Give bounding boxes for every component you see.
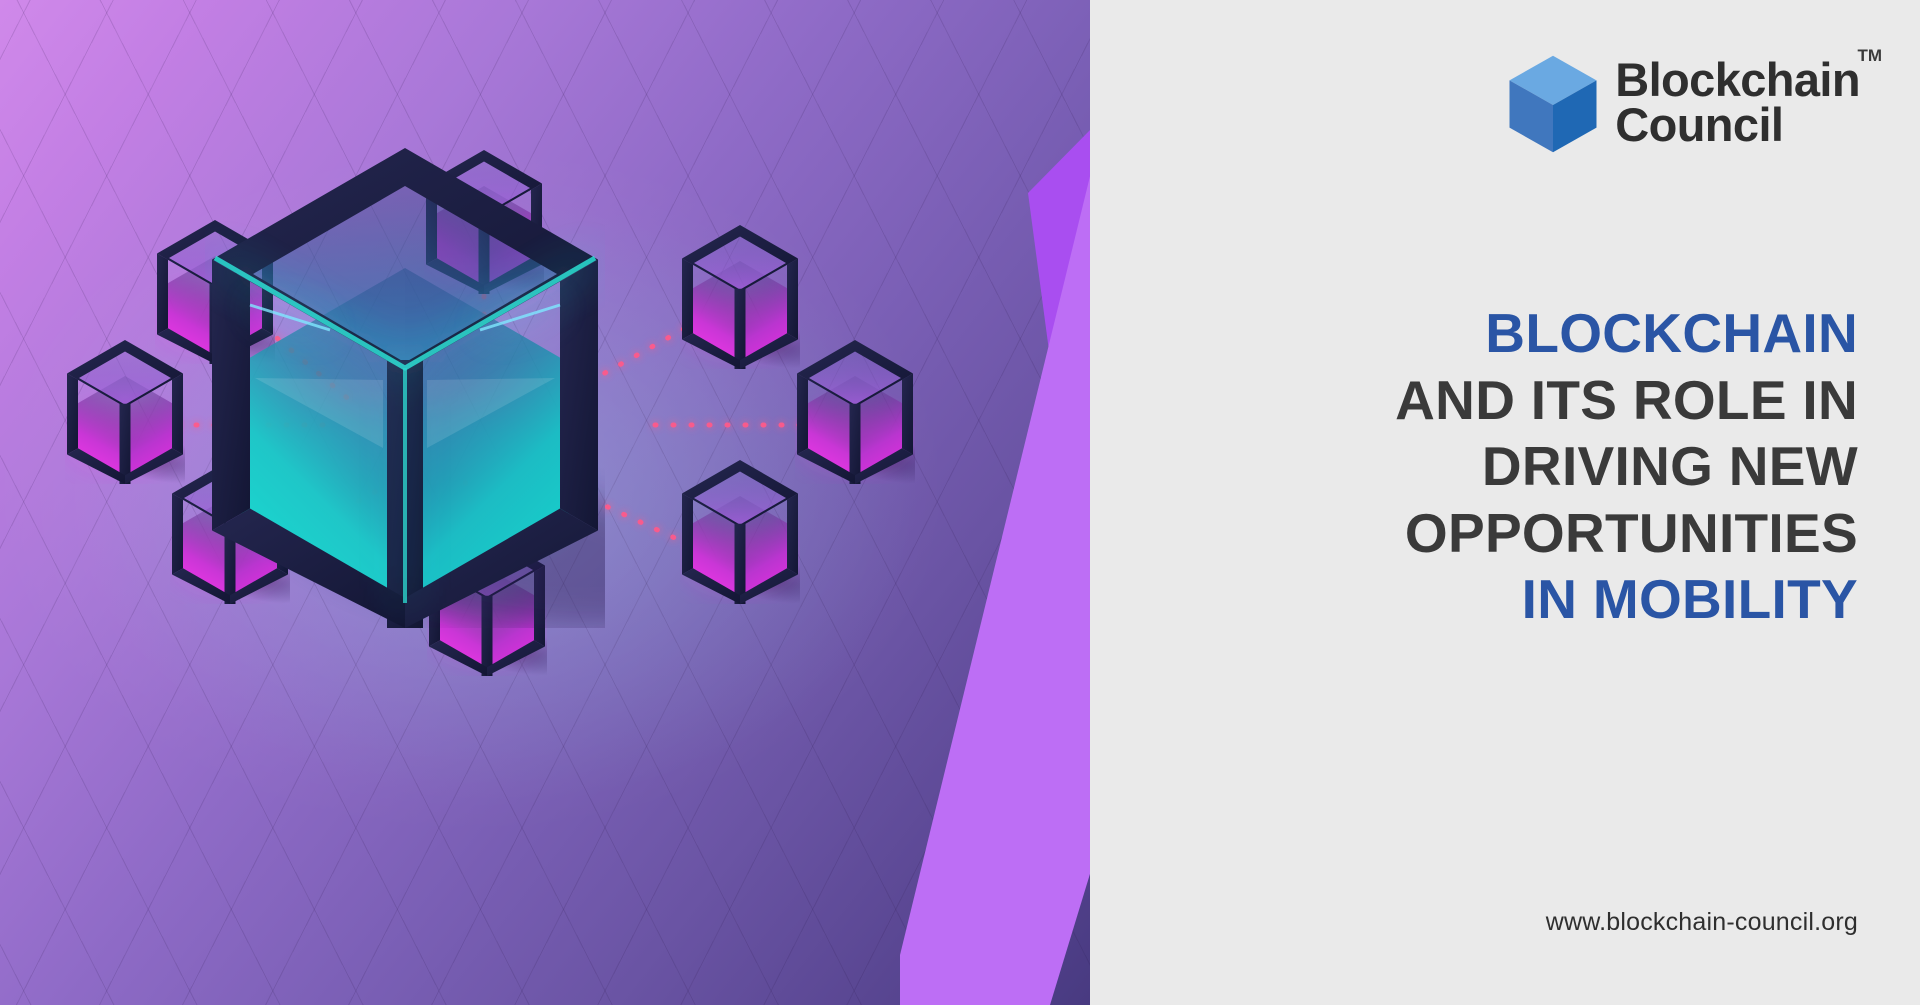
isometric-cube-icon [1505, 52, 1601, 156]
page-title: BLOCKCHAIN AND ITS ROLE IN DRIVING NEW O… [1218, 300, 1858, 633]
headline-line-4: OPPORTUNITIES [1218, 500, 1858, 567]
brand-line-2: Council [1615, 103, 1860, 148]
headline-line-2: AND ITS ROLE IN [1218, 367, 1858, 434]
node-cube-upper-right [682, 225, 833, 378]
node-cube-left [67, 340, 218, 493]
brand-wordmark: Blockchain Council TM [1615, 52, 1860, 147]
trademark-symbol: TM [1857, 48, 1882, 64]
headline-line-1: BLOCKCHAIN [1218, 300, 1858, 367]
headline-line-5: IN MOBILITY [1218, 566, 1858, 633]
brand-logo[interactable]: Blockchain Council TM [1505, 52, 1860, 156]
website-url[interactable]: www.blockchain-council.org [1546, 908, 1858, 937]
node-cube-lower-right [682, 460, 833, 613]
headline-line-3: DRIVING NEW [1218, 433, 1858, 500]
banner-canvas: Blockchain Council TM BLOCKCHAIN AND ITS… [0, 0, 1920, 1005]
